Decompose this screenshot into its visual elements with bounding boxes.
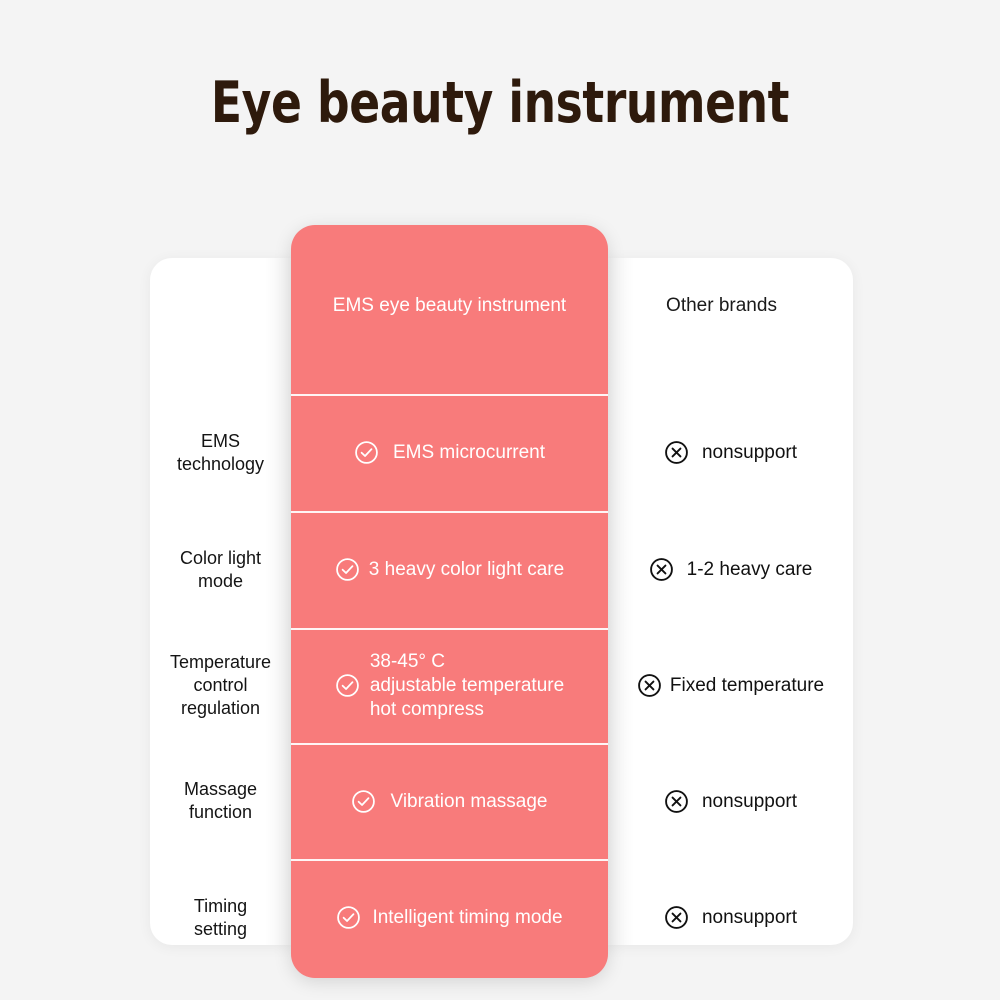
row-other-cell: 1-2 heavy care — [608, 511, 853, 628]
page-title: Eye beauty instrument — [100, 68, 900, 138]
table-row: Color light mode 3 heavy color light car… — [150, 511, 853, 628]
x-circle-icon — [637, 673, 662, 698]
header-other-label: Other brands — [666, 295, 777, 317]
header-cell-ems: EMS eye beauty instrument — [291, 258, 608, 353]
row-ems-cell: Vibration massage — [291, 743, 608, 859]
row-feature-label: EMS technology — [171, 430, 270, 476]
row-feature-label: Temperature control regulation — [164, 651, 277, 720]
x-circle-icon — [649, 557, 674, 582]
row-other-text: 1-2 heavy care — [687, 558, 813, 581]
row-feature-cell: Temperature control regulation — [150, 628, 291, 743]
check-circle-icon — [351, 789, 376, 814]
row-other-cell: nonsupport — [608, 743, 853, 859]
header-ems-label: EMS eye beauty instrument — [333, 295, 566, 317]
row-ems-text: Intelligent timing mode — [372, 906, 562, 929]
check-circle-icon — [335, 557, 360, 582]
comparison-table: EMS eye beauty instrument Other brands E… — [150, 225, 853, 980]
row-feature-label: Timing setting — [188, 895, 253, 941]
row-feature-cell: EMS technology — [150, 394, 291, 511]
row-feature-label: Massage function — [178, 778, 263, 824]
row-feature-cell: Massage function — [150, 743, 291, 859]
row-ems-text: Vibration massage — [390, 790, 547, 813]
row-ems-text: 3 heavy color light care — [369, 558, 564, 581]
row-other-text: nonsupport — [702, 906, 797, 929]
row-other-text: nonsupport — [702, 441, 797, 464]
row-ems-cell: EMS microcurrent — [291, 394, 608, 511]
row-ems-cell: 38-45° C adjustable temperature hot comp… — [291, 628, 608, 743]
x-circle-icon — [664, 440, 689, 465]
check-circle-icon — [336, 905, 361, 930]
check-circle-icon — [335, 673, 360, 698]
row-ems-cell: Intelligent timing mode — [291, 859, 608, 976]
table-row: Timing setting Intelligent timing mode — [150, 859, 853, 976]
check-circle-icon — [354, 440, 379, 465]
x-circle-icon — [664, 789, 689, 814]
row-ems-cell: 3 heavy color light care — [291, 511, 608, 628]
row-ems-text: EMS microcurrent — [393, 441, 545, 464]
row-ems-text: 38-45° C adjustable temperature hot comp… — [370, 650, 564, 722]
row-other-cell: nonsupport — [608, 394, 853, 511]
row-other-cell: Fixed temperature — [608, 628, 853, 743]
header-cell-other: Other brands — [608, 258, 853, 353]
row-other-cell: nonsupport — [608, 859, 853, 976]
row-feature-label: Color light mode — [174, 547, 267, 593]
table-row: EMS technology EMS microcurrent — [150, 394, 853, 511]
row-other-text: Fixed temperature — [670, 674, 824, 697]
row-feature-cell: Color light mode — [150, 511, 291, 628]
comparison-grid: EMS eye beauty instrument Other brands E… — [150, 258, 853, 945]
x-circle-icon — [664, 905, 689, 930]
header-cell-feature — [150, 258, 291, 353]
row-other-text: nonsupport — [702, 790, 797, 813]
table-row: Massage function Vibration massage — [150, 743, 853, 859]
table-header-row: EMS eye beauty instrument Other brands — [150, 258, 853, 353]
row-feature-cell: Timing setting — [150, 859, 291, 976]
table-row: Temperature control regulation 38-45° C … — [150, 628, 853, 743]
